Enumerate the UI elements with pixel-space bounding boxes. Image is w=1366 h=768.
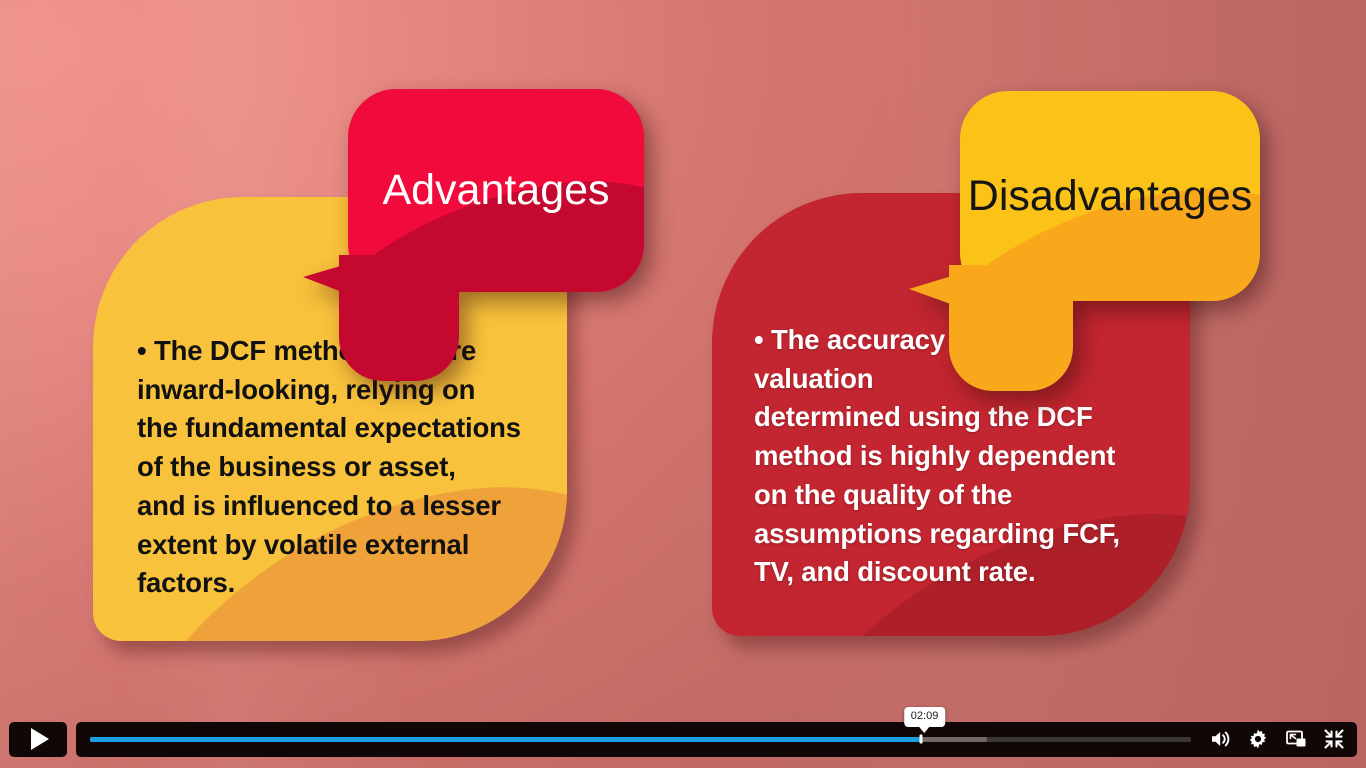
advantages-bubble-box: Advantages	[348, 89, 644, 292]
player-control-bar: 02:09	[0, 710, 1366, 768]
settings-button[interactable]	[1247, 728, 1269, 750]
exit-fullscreen-icon	[1324, 729, 1344, 749]
player-controls-panel: 02:09	[76, 722, 1357, 757]
progress-played	[90, 737, 921, 742]
disadvantages-line: determined using the DCF	[754, 398, 1144, 437]
disadvantages-line: assumptions regarding FCF,	[754, 515, 1144, 554]
time-tooltip: 02:09	[904, 707, 946, 727]
progress-track[interactable]	[90, 737, 1191, 742]
volume-icon	[1210, 730, 1231, 748]
disadvantages-bubble-label: Disadvantages	[968, 175, 1252, 218]
disadvantages-speech-bubble: Disadvantages	[909, 91, 1260, 301]
progress-bar[interactable]: 02:09	[90, 722, 1191, 757]
exit-fullscreen-button[interactable]	[1323, 728, 1345, 750]
picture-in-picture-button[interactable]	[1285, 728, 1307, 750]
disadvantages-line: TV, and discount rate.	[754, 553, 1144, 592]
disadvantages-line: on the quality of the	[754, 476, 1144, 515]
advantages-line: factors.	[137, 564, 523, 603]
gear-icon	[1248, 729, 1268, 749]
progress-handle[interactable]	[920, 735, 923, 744]
picture-in-picture-icon	[1286, 730, 1307, 748]
advantages-speech-bubble: Advantages	[303, 89, 644, 292]
advantages-line: extent by volatile external	[137, 526, 523, 565]
play-icon	[31, 728, 49, 750]
play-button[interactable]	[9, 722, 67, 757]
advantages-line: of the business or asset,	[137, 448, 523, 487]
advantages-line: the fundamental expectations	[137, 409, 523, 448]
video-player-stage: • The DCF method is more inward-looking,…	[0, 0, 1366, 768]
slide-content: • The DCF method is more inward-looking,…	[0, 0, 1366, 768]
disadvantages-line: method is highly dependent	[754, 437, 1144, 476]
volume-button[interactable]	[1209, 728, 1231, 750]
disadvantages-bubble-box: Disadvantages	[960, 91, 1260, 301]
advantages-line: and is influenced to a lesser	[137, 487, 523, 526]
player-icon-group	[1209, 728, 1345, 750]
advantages-bubble-label: Advantages	[382, 169, 609, 212]
advantages-line: • The DCF method is more	[137, 332, 523, 371]
advantages-line: inward-looking, relying on	[137, 371, 523, 410]
